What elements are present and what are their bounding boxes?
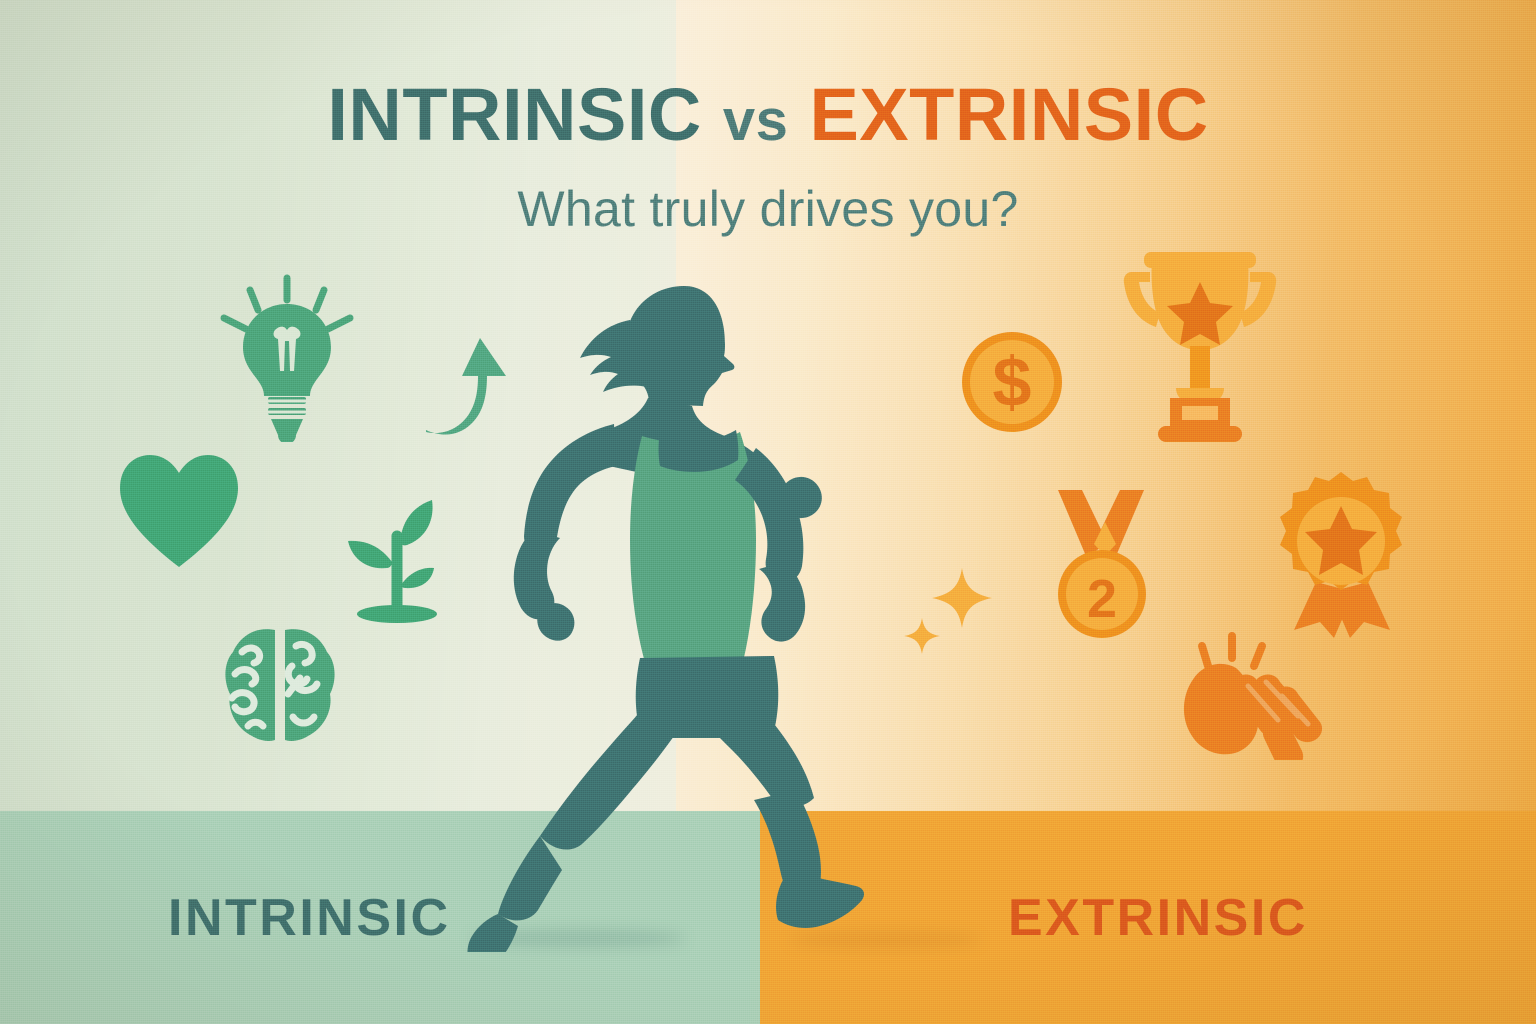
title-extrinsic-word: EXTRINSIC [809,73,1208,156]
infographic-poster: $ 2 [0,0,1536,1024]
trophy-icon [1120,246,1280,451]
title-vs-word: vs [723,88,789,153]
plant-sprout-icon [340,480,450,635]
award-rosette-icon [1268,470,1414,643]
page-subtitle: What truly drives you? [0,180,1536,238]
heart-icon [118,452,240,575]
medal-icon: 2 [1050,484,1160,649]
lightbulb-icon [212,272,362,447]
band-label-intrinsic: INTRINSIC [168,811,451,1024]
running-woman-illustration [462,272,912,957]
coin-symbol-text: $ [993,343,1032,421]
medal-number-text: 2 [1087,569,1117,629]
coin-dollar-icon: $ [960,330,1064,439]
band-label-extrinsic: EXTRINSIC [1008,811,1308,1024]
sparkles-icon [900,556,1010,671]
title-intrinsic-word: INTRINSIC [327,73,702,156]
page-title: INTRINSIC vs EXTRINSIC [0,78,1536,152]
clapping-hands-icon [1178,632,1330,765]
brain-icon [218,622,342,755]
